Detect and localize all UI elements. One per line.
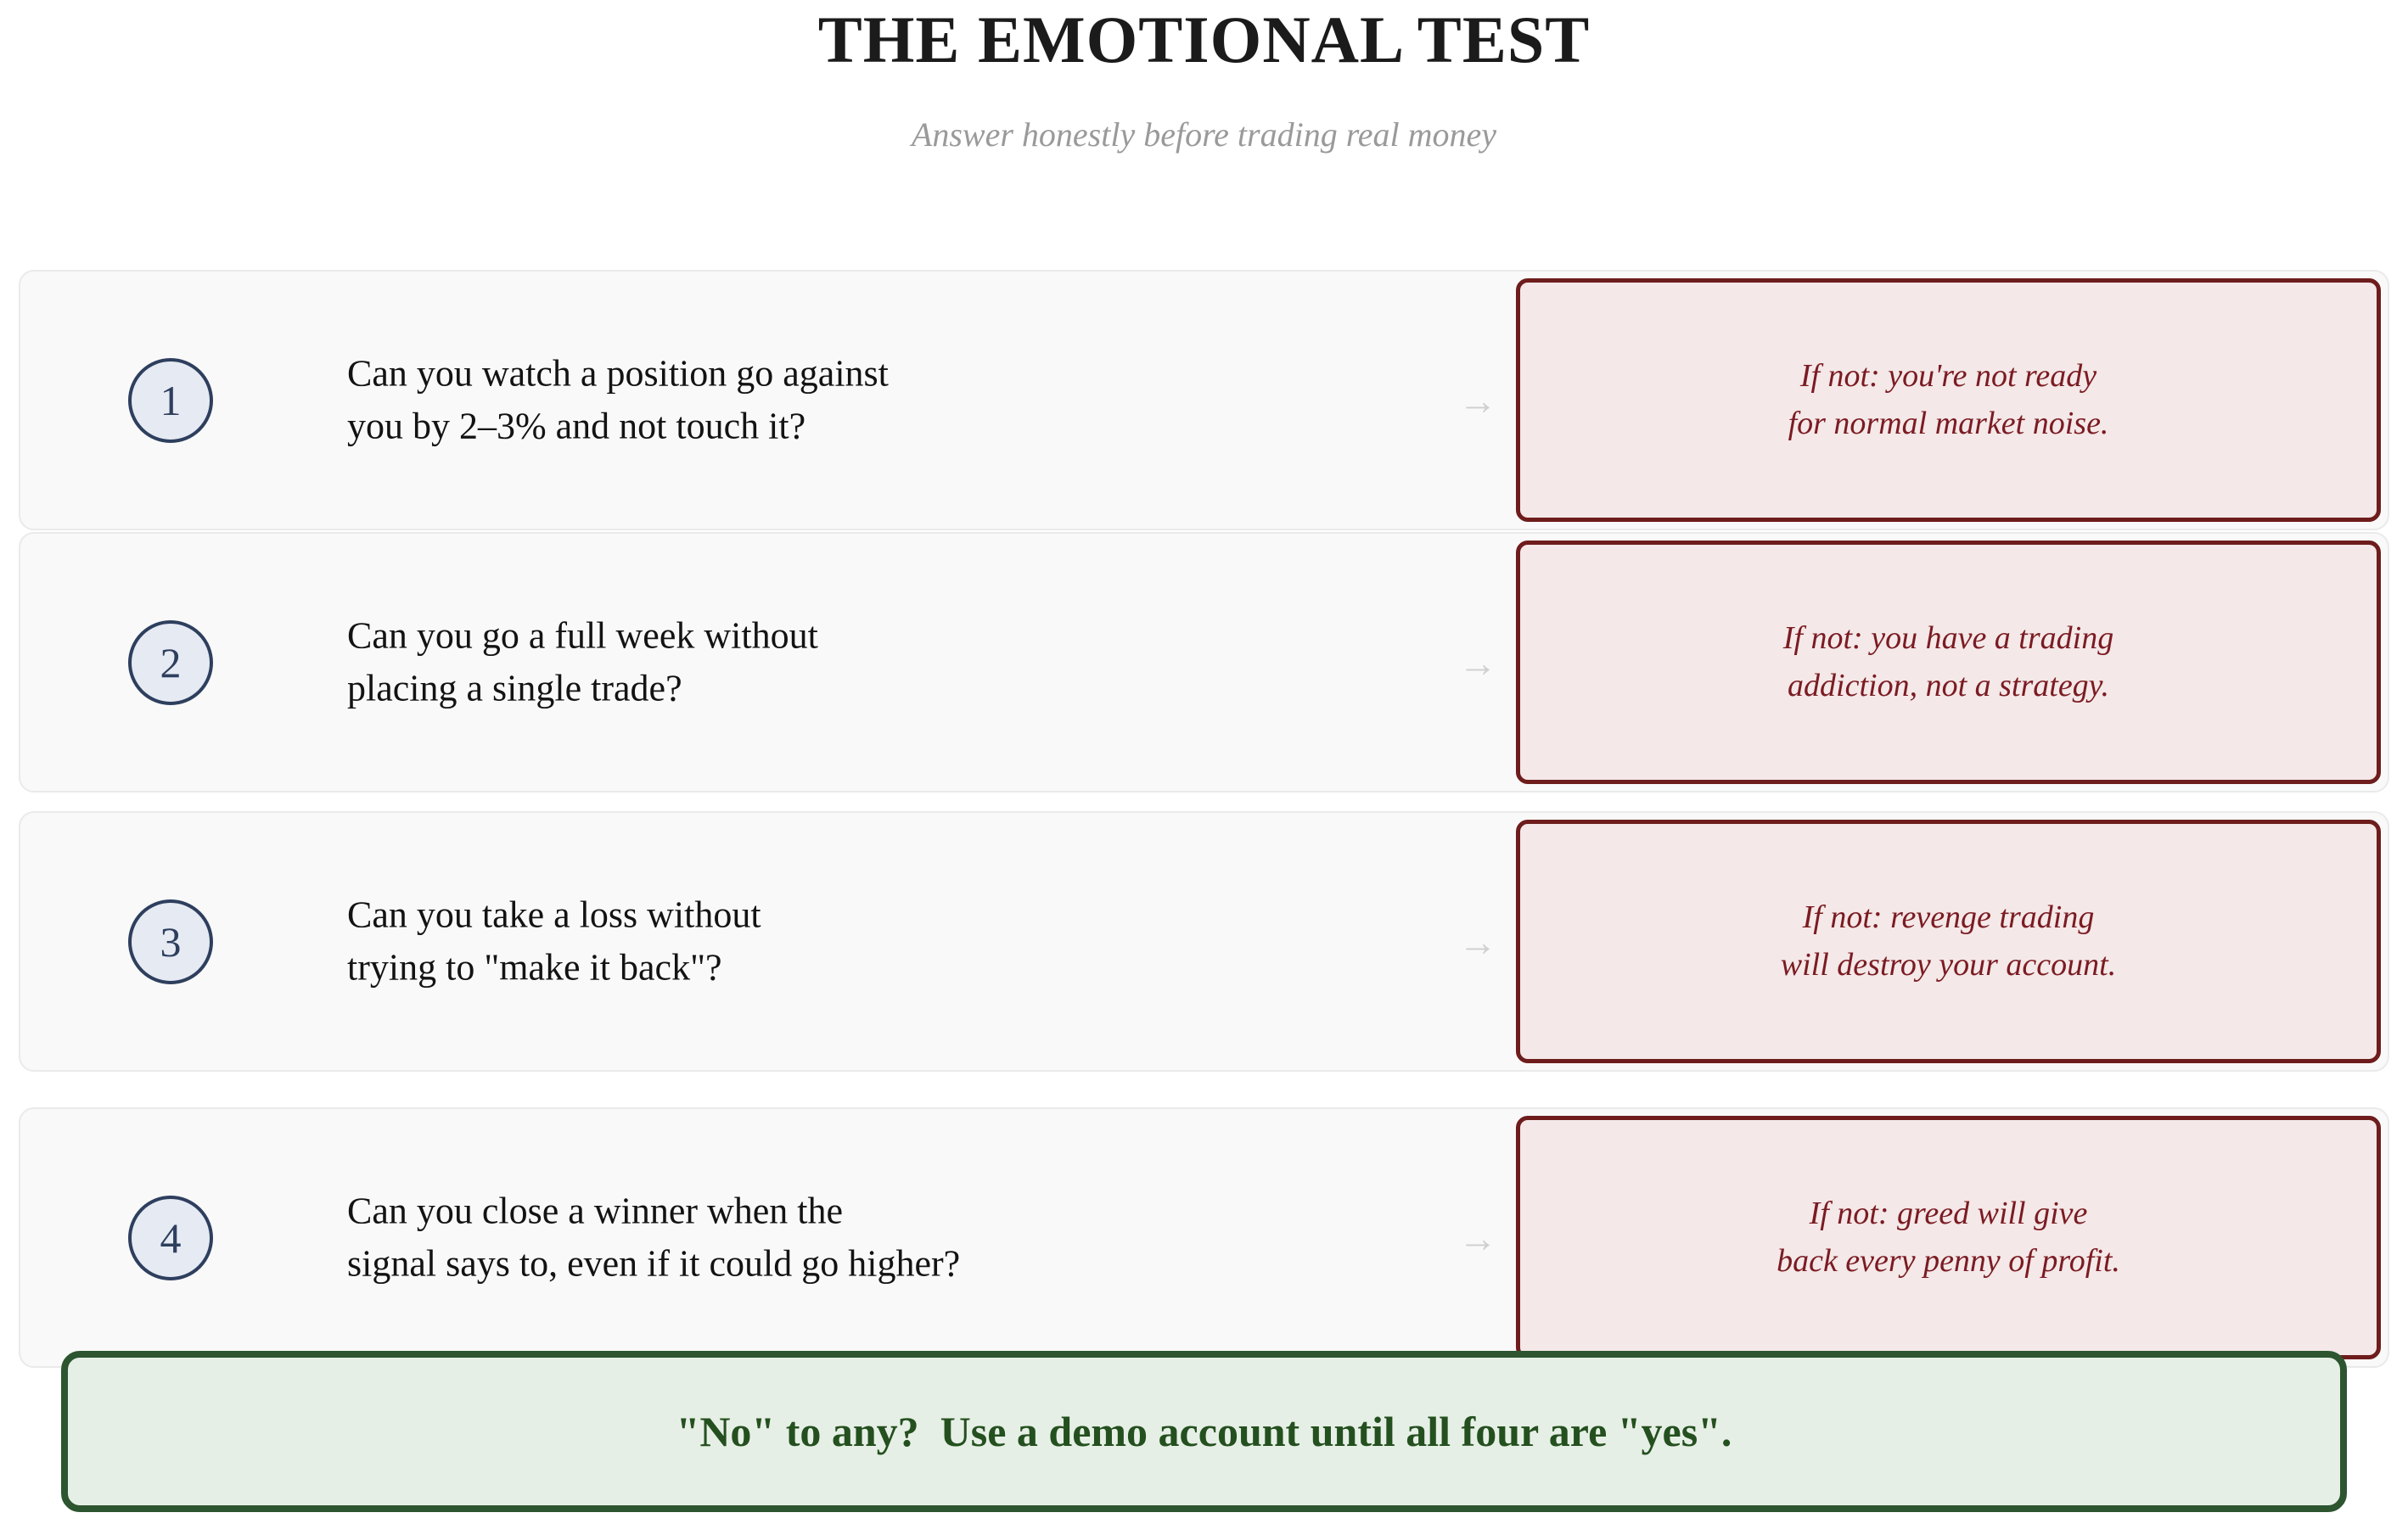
question-row-2[interactable]: 2 Can you go a full week without placing… [19, 532, 2389, 793]
question-text-4: Can you close a winner when the signal s… [347, 1185, 1425, 1291]
arrow-right-icon: → [1458, 381, 1497, 420]
page-title: THE EMOTIONAL TEST [0, 2, 2408, 78]
question-row-3[interactable]: 3 Can you take a loss without trying to … [19, 811, 2389, 1072]
arrow-right-icon: → [1458, 1218, 1497, 1258]
verdict-text: "No" to any? Use a demo account until al… [676, 1407, 1732, 1456]
warning-box-3: If not: revenge trading will destroy you… [1516, 820, 2381, 1063]
question-text-1: Can you watch a position go against you … [347, 347, 1425, 453]
page-subtitle: Answer honestly before trading real mone… [0, 115, 2408, 154]
warning-box-2: If not: you have a trading addiction, no… [1516, 541, 2381, 784]
question-number-badge-2: 2 [128, 620, 213, 705]
question-number-badge-3: 3 [128, 899, 213, 984]
question-text-3: Can you take a loss without trying to "m… [347, 888, 1425, 994]
question-number-badge-4: 4 [128, 1196, 213, 1280]
question-row-4[interactable]: 4 Can you close a winner when the signal… [19, 1107, 2389, 1368]
warning-box-1: If not: you're not ready for normal mark… [1516, 278, 2381, 522]
question-row-1[interactable]: 1 Can you watch a position go against yo… [19, 270, 2389, 530]
question-number-badge-1: 1 [128, 358, 213, 443]
warning-box-4: If not: greed will give back every penny… [1516, 1116, 2381, 1359]
question-text-2: Can you go a full week without placing a… [347, 609, 1425, 715]
arrow-right-icon: → [1458, 643, 1497, 682]
page-header: THE EMOTIONAL TEST Answer honestly befor… [0, 0, 2408, 255]
arrow-right-icon: → [1458, 922, 1497, 961]
verdict-banner: "No" to any? Use a demo account until al… [61, 1351, 2347, 1512]
